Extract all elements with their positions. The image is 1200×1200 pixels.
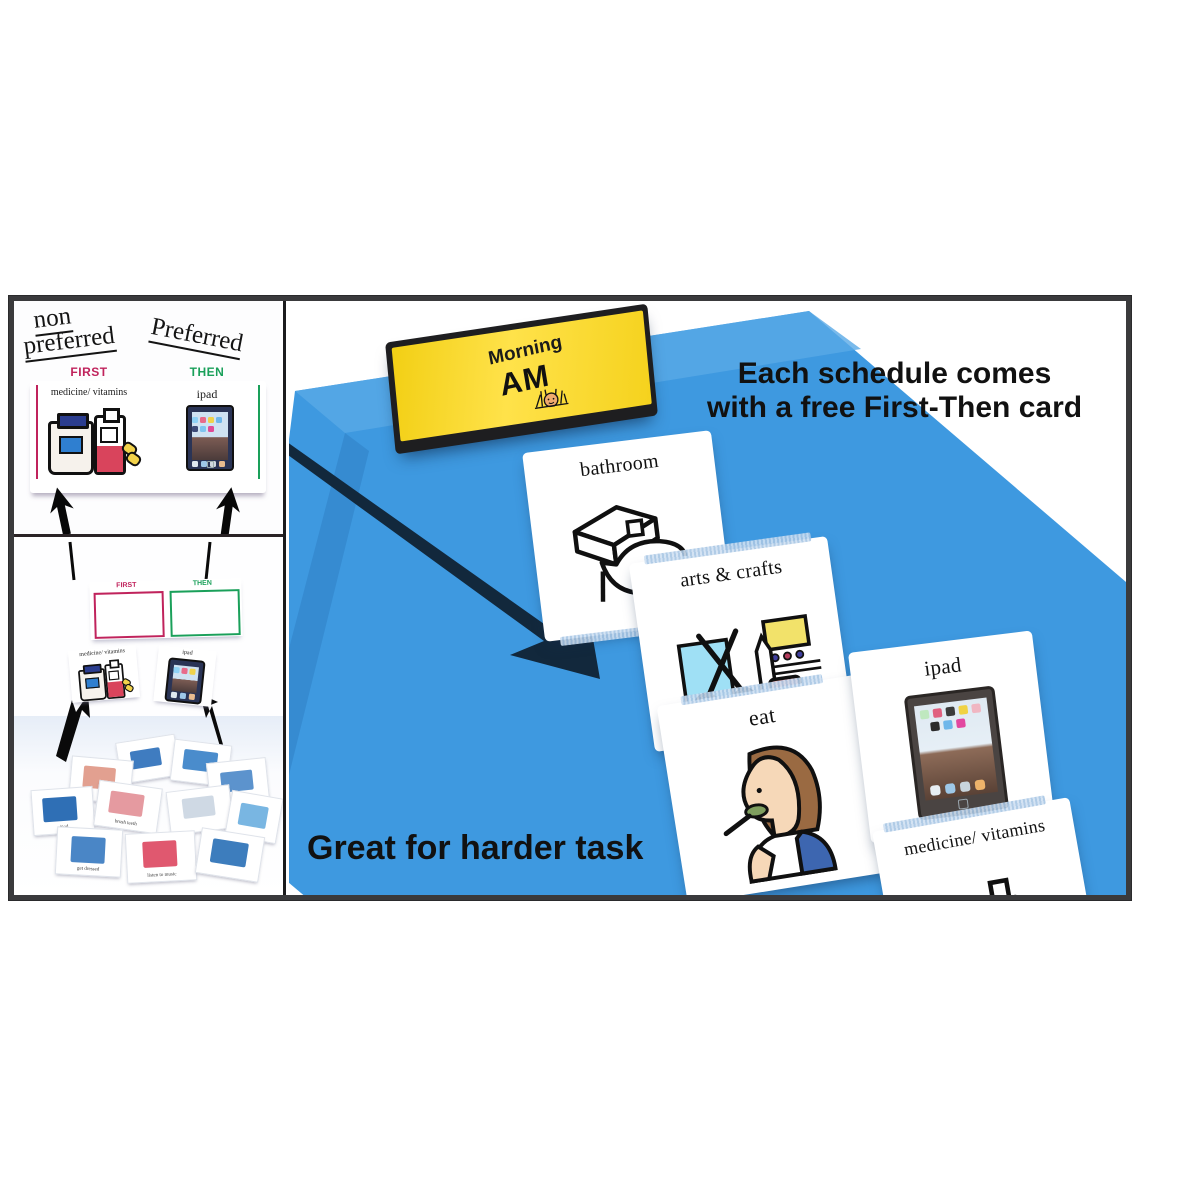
blank-then-title: THEN	[169, 579, 235, 588]
sun-icon	[533, 381, 569, 410]
inset-arrows-top	[14, 301, 286, 537]
loose-card-medicine: medicine/ vitamins	[68, 645, 140, 703]
blank-first-slot	[94, 591, 165, 639]
caption-bottom: Great for harder task	[307, 829, 643, 867]
caption-right-line2: with a free First-Then card	[707, 391, 1082, 425]
product-photo-frame: non preferred Preferred FIRST medicine/ …	[8, 295, 1132, 901]
caption-right: Each schedule comes with a free First-Th…	[707, 357, 1082, 424]
medicine-bottles-icon	[75, 658, 131, 701]
pointer-line-left	[70, 542, 74, 580]
boy-eating-icon	[664, 718, 890, 895]
blank-first-then-card: FIRST THEN	[89, 578, 242, 640]
inset-photo-first-then-closeup: non preferred Preferred FIRST medicine/ …	[14, 301, 286, 537]
inset-photo-card-set: FIRST THEN medicine/ vitamins	[14, 540, 286, 895]
pile-of-picture-cards: ipad brush teeth get dressed listen to m…	[22, 736, 280, 886]
left-inset-column: non preferred Preferred FIRST medicine/ …	[14, 301, 286, 895]
arrow-up-right	[213, 486, 243, 537]
schedule-card-ipad-label: ipad	[850, 644, 1037, 691]
pile-card-label: listen to music	[128, 871, 196, 880]
main-product-photo: Morning AM	[289, 301, 1126, 895]
caption-right-line1: Each schedule comes	[707, 357, 1082, 391]
product-photo-inner: non preferred Preferred FIRST medicine/ …	[14, 301, 1126, 895]
pointer-line-right	[206, 542, 210, 580]
blank-then-slot	[170, 589, 241, 637]
ipad-icon	[904, 685, 1010, 820]
arrow-up-left	[45, 485, 78, 537]
screenshot-canvas: non preferred Preferred FIRST medicine/ …	[0, 0, 1200, 1200]
pile-card-label: get dressed	[56, 865, 120, 873]
blank-first-title: FIRST	[93, 581, 159, 590]
loose-card-ipad: ipad	[153, 645, 217, 707]
ipad-icon	[164, 657, 205, 705]
